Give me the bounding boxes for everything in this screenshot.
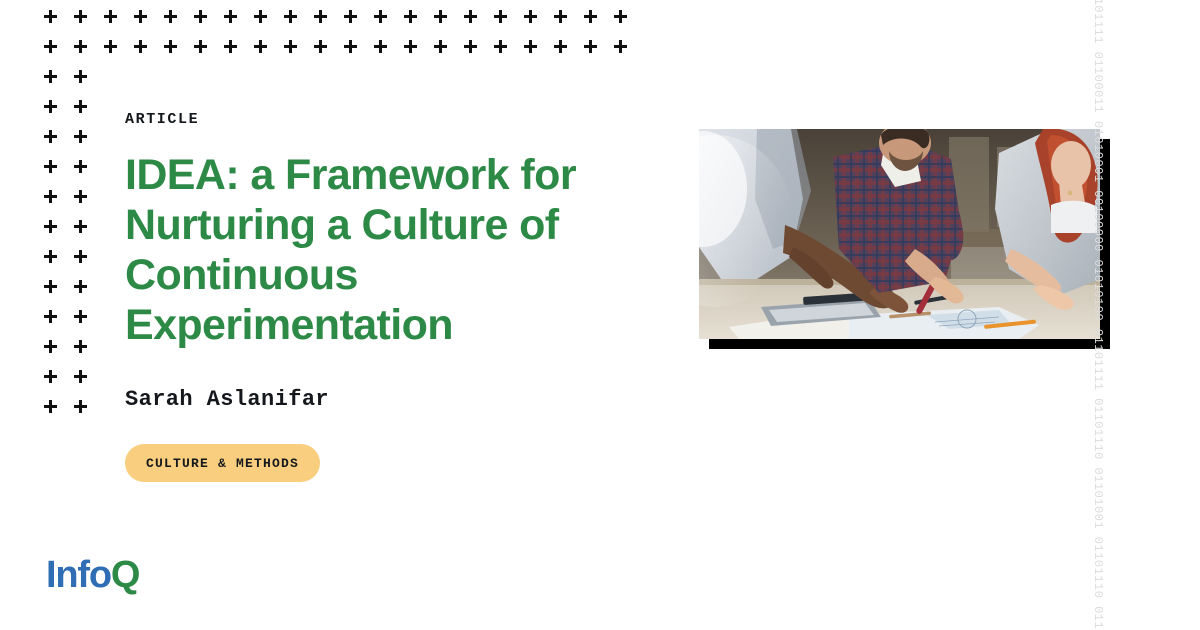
plus-glyph [434,10,447,23]
plus-glyph [164,40,177,53]
plus-glyph [134,10,147,23]
page-title: IDEA: a Framework for Nurturing a Cultur… [125,150,595,350]
plus-glyph [44,100,57,113]
plus-glyph [524,40,537,53]
plus-glyph [254,40,267,53]
plus-glyph [44,190,57,203]
topic-badge[interactable]: CULTURE & METHODS [125,444,320,482]
plus-glyph [614,40,627,53]
plus-glyph [44,40,57,53]
plus-glyph [74,340,87,353]
plus-glyph [44,400,57,413]
binary-strip-decoration: 01101110 01101111 01100011 01010001 0010… [1091,0,1105,573]
plus-glyph [74,220,87,233]
plus-glyph [344,40,357,53]
plus-glyph [194,40,207,53]
plus-glyph [164,10,177,23]
plus-glyph [224,40,237,53]
plus-glyph [464,40,477,53]
plus-glyph [74,40,87,53]
logo-q-text: Q [111,554,139,596]
plus-glyph [314,40,327,53]
plus-glyph [494,40,507,53]
plus-glyph [44,280,57,293]
hero-image-wrapper [699,129,1100,339]
plus-glyph [464,10,477,23]
hero-photo-illustration [699,129,1100,339]
plus-glyph [404,10,417,23]
plus-glyph [104,10,117,23]
plus-glyph [194,10,207,23]
plus-glyph [254,10,267,23]
content-type-label: ARTICLE [125,112,645,127]
plus-glyph [44,250,57,263]
author-name: Sarah Aslanifar [125,389,645,411]
plus-glyph [74,370,87,383]
badge-row: CULTURE & METHODS [125,444,645,482]
plus-glyph [74,10,87,23]
plus-glyph [494,10,507,23]
plus-glyph [74,70,87,83]
plus-glyph [44,340,57,353]
plus-glyph [74,160,87,173]
plus-glyph [74,310,87,323]
plus-glyph [434,40,447,53]
plus-glyph [344,10,357,23]
plus-glyph [314,10,327,23]
plus-glyph [524,10,537,23]
plus-glyph [74,190,87,203]
plus-glyph [584,40,597,53]
plus-glyph [374,40,387,53]
plus-glyph [104,40,117,53]
plus-glyph [614,10,627,23]
plus-glyph [284,40,297,53]
plus-glyph [74,130,87,143]
plus-glyph [554,40,567,53]
plus-glyph [44,10,57,23]
plus-glyph [44,130,57,143]
plus-glyph [74,400,87,413]
hero-photo [699,129,1100,339]
plus-glyph [584,10,597,23]
share-card: ARTICLE IDEA: a Framework for Nurturing … [0,0,1200,630]
plus-glyph [44,70,57,83]
plus-glyph [74,100,87,113]
infoq-logo[interactable]: InfoQ [46,556,139,594]
plus-glyph [44,220,57,233]
article-content: ARTICLE IDEA: a Framework for Nurturing … [125,112,645,482]
plus-glyph [44,370,57,383]
plus-glyph [404,40,417,53]
plus-glyph [74,280,87,293]
plus-glyph [44,310,57,323]
plus-glyph [284,10,297,23]
plus-glyph [374,10,387,23]
plus-glyph [554,10,567,23]
plus-glyph [44,160,57,173]
logo-info-text: Info [46,554,111,596]
plus-glyph [224,10,237,23]
plus-glyph [134,40,147,53]
plus-glyph [74,250,87,263]
